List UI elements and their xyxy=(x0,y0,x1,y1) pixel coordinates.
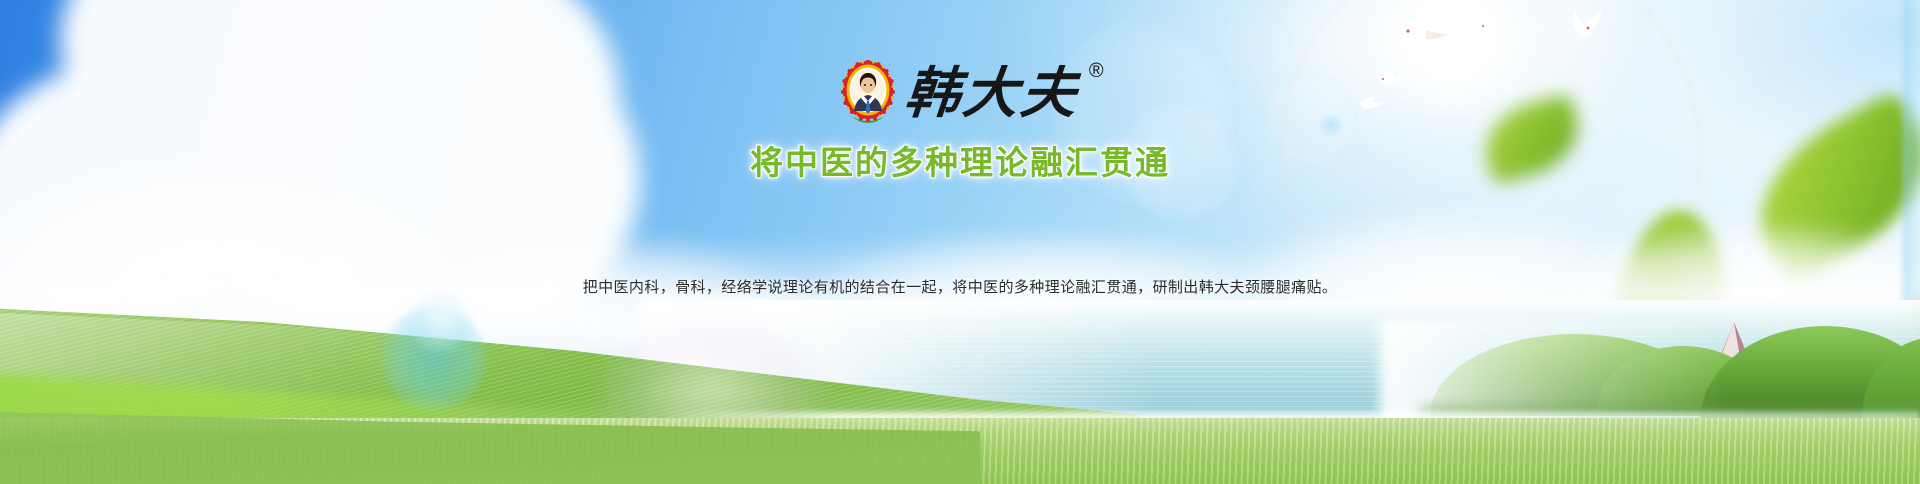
registered-trademark-icon: ® xyxy=(1089,61,1107,81)
headline: 将中医的多种理论融汇贯通 xyxy=(0,136,1920,184)
banner-content: 韩大夫® 将中医的多种理论融汇贯通 把中医内科，骨科，经络学说理论有机的结合在一… xyxy=(0,0,1920,484)
brand-logo[interactable]: 韩大夫® xyxy=(841,60,1079,124)
brand-name: 韩大夫® xyxy=(903,65,1082,120)
description-text: 把中医内科，骨科，经络学说理论有机的结合在一起，将中医的多种理论融汇贯通，研制出… xyxy=(575,272,1345,302)
hero-banner: 韩大夫® 将中医的多种理论融汇贯通 把中医内科，骨科，经络学说理论有机的结合在一… xyxy=(0,0,1920,484)
doctor-portrait-icon xyxy=(841,60,895,124)
